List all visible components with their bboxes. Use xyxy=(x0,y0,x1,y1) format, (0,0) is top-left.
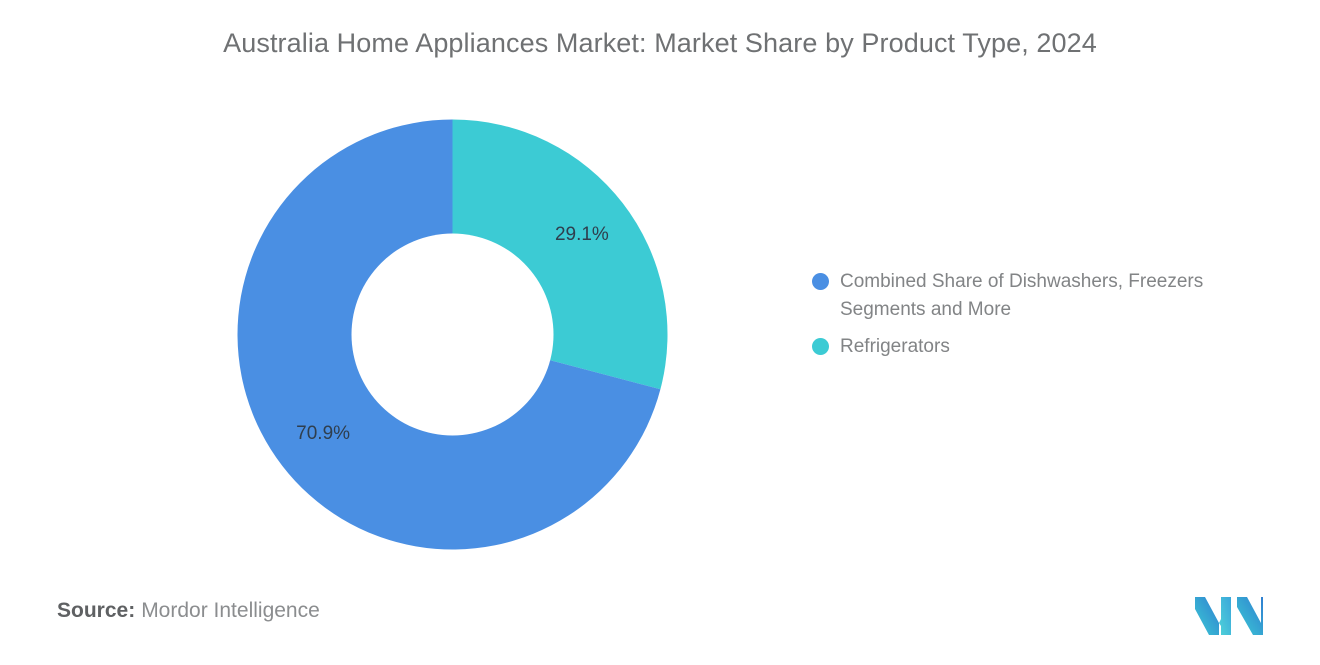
slice-label-refrigerators: 29.1% xyxy=(555,224,609,245)
legend-item-combined-share[interactable]: Combined Share of Dishwashers, Freezers … xyxy=(812,268,1282,324)
chart-legend: Combined Share of Dishwashers, Freezers … xyxy=(812,268,1282,370)
chart-footer: Source:Mordor Intelligence xyxy=(0,585,1320,665)
donut-chart-plot-area: 29.1% 70.9% xyxy=(0,95,800,575)
donut-center-hole xyxy=(352,234,554,436)
source-line: Source:Mordor Intelligence xyxy=(57,599,320,623)
chart-title: Australia Home Appliances Market: Market… xyxy=(0,28,1320,59)
legend-label-combined-share: Combined Share of Dishwashers, Freezers … xyxy=(840,268,1270,324)
source-value: Mordor Intelligence xyxy=(141,599,320,622)
source-label: Source: xyxy=(57,599,135,622)
slice-label-combined-share: 70.9% xyxy=(296,423,350,444)
legend-item-refrigerators[interactable]: Refrigerators xyxy=(812,333,1282,361)
mordor-intelligence-logo-icon xyxy=(1193,593,1265,637)
donut-chart: 29.1% 70.9% xyxy=(237,119,668,550)
legend-swatch-blue-icon xyxy=(812,273,829,290)
chart-page: Australia Home Appliances Market: Market… xyxy=(0,0,1320,665)
legend-swatch-teal-icon xyxy=(812,338,829,355)
legend-label-refrigerators: Refrigerators xyxy=(840,333,950,361)
